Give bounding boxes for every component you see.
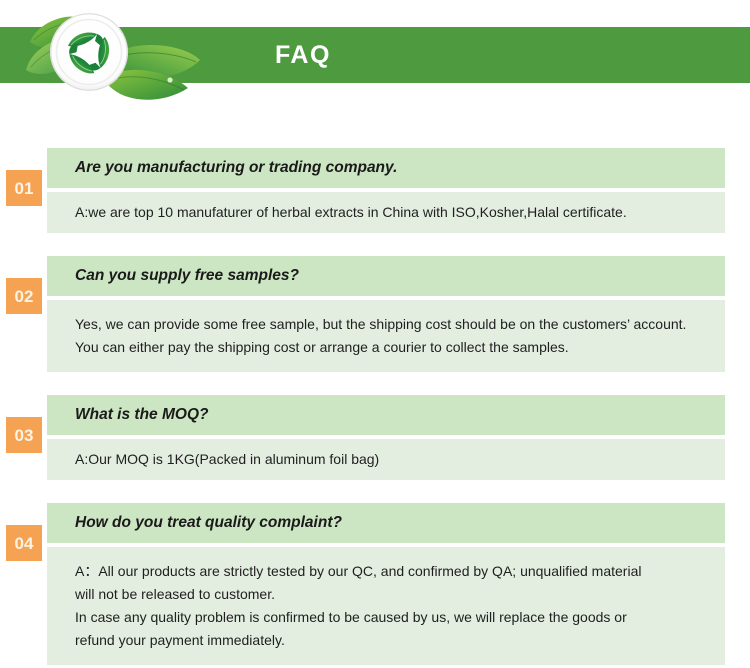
faq-question-bar[interactable]: Are you manufacturing or trading company… — [47, 148, 725, 188]
faq-answer-text: A：All our products are strictly tested b… — [75, 563, 641, 648]
faq-answer-bar: A:Our MOQ is 1KG(Packed in aluminum foil… — [47, 439, 725, 480]
faq-number-badge: 01 — [6, 170, 42, 206]
faq-answer-text: A:we are top 10 manufaturer of herbal ex… — [75, 204, 627, 220]
faq-answer-bar: Yes, we can provide some free sample, bu… — [47, 300, 725, 372]
faq-item: 01 Are you manufacturing or trading comp… — [0, 148, 750, 233]
page-title: FAQ — [275, 38, 331, 72]
faq-item: 02 Can you supply free samples? Yes, we … — [0, 256, 750, 372]
faq-question-text: Can you supply free samples? — [75, 266, 299, 286]
faq-content: How do you treat quality complaint? A：Al… — [47, 503, 725, 665]
faq-answer-bar: A:we are top 10 manufaturer of herbal ex… — [47, 192, 725, 233]
faq-answer-bar: A：All our products are strictly tested b… — [47, 547, 725, 665]
faq-item: 03 What is the MOQ? A:Our MOQ is 1KG(Pac… — [0, 395, 750, 480]
page-header: FAQ — [0, 0, 750, 110]
faq-question-text: What is the MOQ? — [75, 405, 208, 425]
faq-list: 01 Are you manufacturing or trading comp… — [0, 110, 750, 665]
faq-number-badge: 04 — [6, 525, 42, 561]
leaf-recycle-logo-icon — [18, 0, 218, 110]
faq-question-bar[interactable]: How do you treat quality complaint? — [47, 503, 725, 543]
faq-content: What is the MOQ? A:Our MOQ is 1KG(Packed… — [47, 395, 725, 480]
faq-content: Are you manufacturing or trading company… — [47, 148, 725, 233]
faq-question-text: How do you treat quality complaint? — [75, 513, 342, 533]
faq-question-bar[interactable]: Can you supply free samples? — [47, 256, 725, 296]
faq-question-bar[interactable]: What is the MOQ? — [47, 395, 725, 435]
faq-answer-text: A:Our MOQ is 1KG(Packed in aluminum foil… — [75, 451, 379, 467]
leaf-recycle-logo — [18, 0, 218, 110]
faq-content: Can you supply free samples? Yes, we can… — [47, 256, 725, 372]
faq-answer-text: Yes, we can provide some free sample, bu… — [75, 316, 686, 355]
faq-question-text: Are you manufacturing or trading company… — [75, 158, 397, 178]
faq-number-badge: 02 — [6, 278, 42, 314]
faq-number-badge: 03 — [6, 417, 42, 453]
faq-item: 04 How do you treat quality complaint? A… — [0, 503, 750, 665]
